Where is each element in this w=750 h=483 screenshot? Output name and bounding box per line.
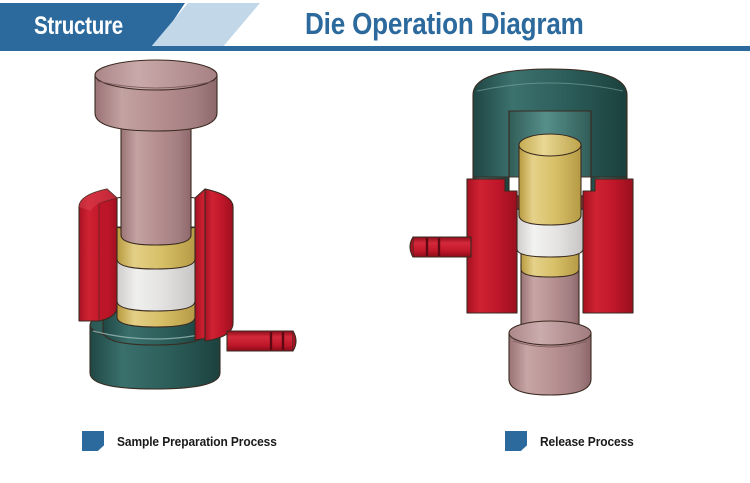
header-tag-label: Structure [34, 8, 157, 44]
plunger-base [509, 321, 591, 395]
diagram-sample-preparation [55, 55, 315, 405]
caption-label: Sample Preparation Process [117, 434, 277, 449]
caption-marker-icon [505, 431, 527, 451]
vacuum-nozzle [227, 331, 296, 351]
page-header: Structure Die Operation Diagram [0, 0, 750, 52]
caption-label: Release Process [540, 434, 634, 449]
header-rule [0, 46, 750, 51]
gold-ring-upper [519, 134, 581, 225]
caption-sample-preparation: Sample Preparation Process [82, 430, 291, 452]
caption-marker-icon [82, 431, 104, 451]
diagram-release [405, 55, 695, 415]
caption-release: Release Process [505, 430, 642, 452]
diagram-area [0, 55, 750, 423]
vacuum-nozzle [410, 237, 471, 257]
page-title: Die Operation Diagram [305, 4, 658, 44]
plunger-head [95, 60, 217, 131]
